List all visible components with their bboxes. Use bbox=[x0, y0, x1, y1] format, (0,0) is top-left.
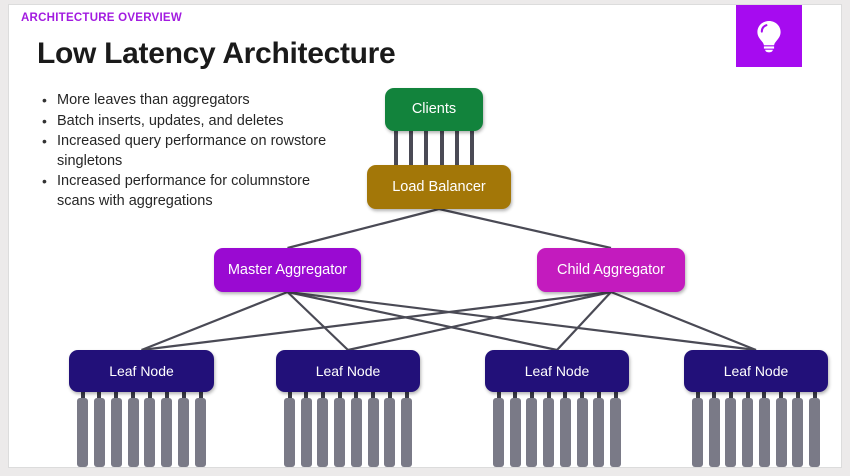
storage-disk bbox=[77, 398, 88, 467]
storage-disk bbox=[334, 398, 345, 467]
diagram-node-leaf4[interactable]: Leaf Node bbox=[684, 350, 828, 392]
architecture-diagram: ClientsLoad BalancerMaster AggregatorChi… bbox=[9, 5, 842, 468]
diagram-node-lb[interactable]: Load Balancer bbox=[367, 165, 511, 209]
storage-disk bbox=[301, 398, 312, 467]
storage-disk bbox=[128, 398, 139, 467]
diagram-edge bbox=[288, 209, 440, 248]
diagram-edge bbox=[611, 292, 756, 350]
diagram-edge bbox=[288, 292, 757, 350]
diagram-edge bbox=[142, 292, 612, 350]
client-connector-stem bbox=[455, 127, 459, 169]
slide-canvas: ARCHITECTURE OVERVIEW Low Latency Archit… bbox=[8, 4, 842, 468]
storage-disk bbox=[526, 398, 537, 467]
diagram-node-child[interactable]: Child Aggregator bbox=[537, 248, 685, 292]
diagram-node-leaf1[interactable]: Leaf Node bbox=[69, 350, 214, 392]
diagram-edge bbox=[348, 292, 611, 350]
diagram-node-clients[interactable]: Clients bbox=[385, 88, 483, 131]
storage-disk bbox=[543, 398, 554, 467]
storage-disk bbox=[94, 398, 105, 467]
diagram-node-leaf2[interactable]: Leaf Node bbox=[276, 350, 420, 392]
storage-disk bbox=[401, 398, 412, 467]
storage-disk bbox=[161, 398, 172, 467]
storage-disk bbox=[776, 398, 787, 467]
storage-disk bbox=[692, 398, 703, 467]
diagram-edge bbox=[288, 292, 558, 350]
storage-disk bbox=[577, 398, 588, 467]
client-connector-stem bbox=[394, 127, 398, 169]
storage-disk bbox=[792, 398, 803, 467]
storage-disk bbox=[510, 398, 521, 467]
storage-disk bbox=[284, 398, 295, 467]
storage-disk bbox=[809, 398, 820, 467]
storage-disk bbox=[111, 398, 122, 467]
storage-disk bbox=[610, 398, 621, 467]
diagram-edge bbox=[142, 292, 288, 350]
storage-disk bbox=[178, 398, 189, 467]
client-connector-stem bbox=[424, 127, 428, 169]
storage-disk bbox=[725, 398, 736, 467]
diagram-edge bbox=[288, 292, 349, 350]
diagram-edge bbox=[557, 292, 611, 350]
diagram-node-master[interactable]: Master Aggregator bbox=[214, 248, 361, 292]
storage-disk bbox=[384, 398, 395, 467]
storage-disk bbox=[709, 398, 720, 467]
storage-disk bbox=[368, 398, 379, 467]
storage-disk bbox=[144, 398, 155, 467]
storage-disk bbox=[593, 398, 604, 467]
diagram-edge bbox=[439, 209, 611, 248]
storage-disk bbox=[317, 398, 328, 467]
storage-disk bbox=[742, 398, 753, 467]
storage-disk bbox=[759, 398, 770, 467]
client-connector-stem bbox=[409, 127, 413, 169]
client-connector-stem bbox=[470, 127, 474, 169]
storage-disk bbox=[195, 398, 206, 467]
storage-disk bbox=[493, 398, 504, 467]
storage-disk bbox=[560, 398, 571, 467]
storage-disk bbox=[351, 398, 362, 467]
diagram-node-leaf3[interactable]: Leaf Node bbox=[485, 350, 629, 392]
client-connector-stem bbox=[440, 127, 444, 169]
